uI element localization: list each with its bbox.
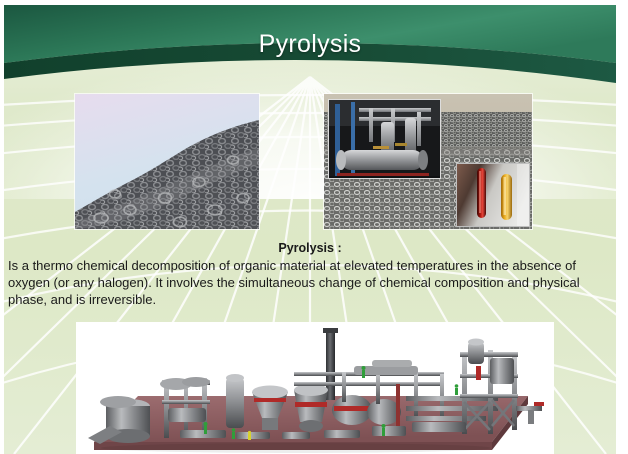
body-text-block: Pyrolysis : Is a thermo chemical decompo…	[4, 241, 616, 308]
inset-oil-sample-tubes-photo	[456, 163, 530, 227]
slide-canvas: Pyrolysis	[4, 5, 616, 454]
section-subtitle: Pyrolysis :	[4, 241, 616, 257]
pyrolysis-plant-collage	[324, 94, 532, 229]
scrap-tire-pile-photo	[75, 94, 259, 229]
page-title: Pyrolysis	[4, 30, 616, 59]
slide-header: Pyrolysis	[4, 5, 616, 97]
inset-reactor-photo	[328, 99, 441, 179]
definition-paragraph: Is a thermo chemical decomposition of or…	[4, 257, 616, 308]
pyrolysis-plant-3d-render	[76, 322, 554, 454]
